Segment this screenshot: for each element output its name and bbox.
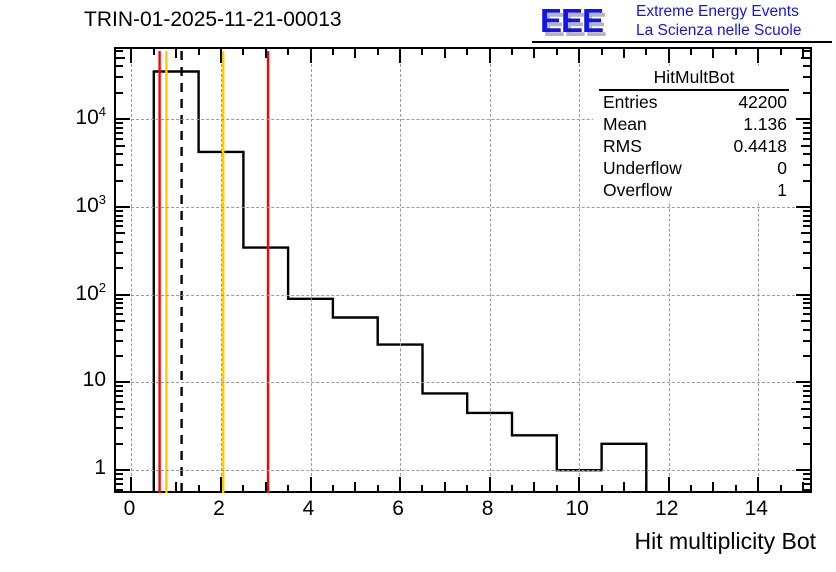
page-title: TRIN-01-2025-11-21-00013 bbox=[84, 8, 342, 32]
y-axis-tick bbox=[803, 401, 810, 403]
x-axis-tick bbox=[377, 49, 379, 55]
stats-value: 1.136 bbox=[743, 113, 787, 135]
x-axis-tick bbox=[399, 49, 401, 63]
y-axis-tick bbox=[116, 206, 130, 208]
y-axis-tick bbox=[803, 443, 810, 445]
x-axis-tick bbox=[421, 49, 423, 55]
x-tick-label: 4 bbox=[303, 497, 315, 521]
y-tick-label: 102 bbox=[75, 280, 106, 306]
stats-key: RMS bbox=[603, 135, 642, 157]
y-axis-tick bbox=[116, 329, 123, 331]
stats-row: Overflow1 bbox=[593, 179, 795, 201]
x-axis-tick bbox=[668, 49, 670, 63]
gridline-vertical bbox=[131, 49, 132, 491]
x-axis-tick bbox=[153, 485, 155, 491]
x-axis-tick bbox=[332, 49, 334, 55]
y-axis-tick bbox=[116, 215, 123, 217]
y-axis-tick bbox=[803, 241, 810, 243]
y-axis-tick bbox=[116, 355, 123, 357]
y-axis-tick bbox=[803, 122, 810, 124]
x-axis-tick bbox=[623, 49, 625, 58]
y-axis-tick bbox=[116, 180, 123, 182]
y-axis-tick bbox=[803, 132, 810, 134]
y-axis-tick bbox=[116, 443, 123, 445]
y-tick-label: 104 bbox=[75, 104, 106, 130]
y-axis-tick bbox=[116, 127, 123, 129]
y-axis-tick bbox=[803, 138, 810, 140]
x-axis-tick bbox=[511, 49, 513, 55]
y-axis-tick bbox=[803, 483, 810, 485]
x-axis-tick bbox=[466, 49, 468, 55]
gridline-vertical bbox=[400, 49, 401, 491]
stats-row: Underflow0 bbox=[593, 157, 795, 179]
stats-key: Overflow bbox=[603, 179, 672, 201]
x-axis-tick bbox=[220, 477, 222, 491]
x-axis-tick bbox=[578, 477, 580, 491]
x-axis-tick bbox=[220, 49, 222, 63]
y-axis-tick bbox=[803, 416, 810, 418]
y-axis-tick bbox=[116, 469, 130, 471]
y-axis-tick bbox=[796, 294, 810, 296]
x-axis-tick bbox=[265, 482, 267, 491]
gridline-vertical bbox=[579, 49, 580, 491]
x-axis-tick bbox=[242, 49, 244, 55]
y-axis-tick bbox=[116, 401, 123, 403]
x-axis-tick bbox=[623, 482, 625, 491]
x-tick-label: 10 bbox=[565, 497, 588, 521]
x-axis-tick bbox=[198, 485, 200, 491]
stats-key: Entries bbox=[603, 91, 657, 113]
gridline-vertical bbox=[221, 49, 222, 491]
y-axis-tick bbox=[116, 220, 123, 222]
y-axis-tick bbox=[116, 232, 125, 234]
y-axis-tick bbox=[803, 329, 810, 331]
y-axis-tick bbox=[116, 408, 125, 410]
y-axis-tick bbox=[803, 50, 810, 52]
y-axis-tick bbox=[116, 307, 123, 309]
y-axis-tick bbox=[803, 164, 810, 166]
y-axis-tick bbox=[801, 145, 810, 147]
y-axis-tick bbox=[803, 473, 810, 475]
x-axis-tick bbox=[757, 49, 759, 63]
y-axis-tick bbox=[803, 355, 810, 357]
y-axis-tick bbox=[116, 390, 123, 392]
x-axis-tick bbox=[332, 485, 334, 491]
y-axis-tick bbox=[803, 220, 810, 222]
x-axis-tick bbox=[735, 485, 737, 491]
x-axis-tick bbox=[690, 49, 692, 55]
y-axis-tick bbox=[116, 427, 123, 429]
y-axis-tick bbox=[803, 427, 810, 429]
y-axis-tick bbox=[116, 294, 130, 296]
x-axis-tick bbox=[399, 477, 401, 491]
y-axis-tick bbox=[116, 153, 123, 155]
x-axis-tick bbox=[780, 485, 782, 491]
y-axis-tick bbox=[116, 65, 123, 67]
y-axis-tick bbox=[803, 252, 810, 254]
y-axis-tick bbox=[116, 313, 123, 315]
eee-logo-line2: La Scienza nelle Scuole bbox=[636, 21, 801, 40]
y-axis-tick bbox=[803, 215, 810, 217]
y-axis-tick bbox=[803, 395, 810, 397]
y-axis-tick bbox=[116, 395, 123, 397]
x-axis-tick bbox=[444, 49, 446, 58]
y-tick-label: 1 bbox=[94, 456, 106, 480]
y-axis-tick bbox=[116, 483, 123, 485]
y-axis-tick bbox=[116, 416, 123, 418]
x-axis-tick bbox=[175, 482, 177, 491]
x-axis-tick bbox=[780, 49, 782, 55]
x-axis-tick bbox=[287, 49, 289, 55]
y-axis-tick bbox=[116, 225, 123, 227]
y-axis-tick bbox=[803, 127, 810, 129]
x-axis-tick bbox=[265, 49, 267, 58]
x-axis-tick bbox=[533, 49, 535, 58]
x-tick-label: 6 bbox=[392, 497, 404, 521]
stats-box: HitMultBot Entries42200Mean1.136RMS0.441… bbox=[593, 66, 795, 201]
y-axis-tick bbox=[116, 385, 123, 387]
y-axis-tick bbox=[803, 267, 810, 269]
y-axis-tick bbox=[116, 164, 123, 166]
gridline-vertical bbox=[490, 49, 491, 491]
stats-value: 42200 bbox=[738, 91, 787, 113]
x-axis-tick bbox=[645, 49, 647, 55]
y-axis-tick bbox=[803, 302, 810, 304]
y-axis-tick bbox=[803, 340, 810, 342]
stats-row: RMS0.4418 bbox=[593, 135, 795, 157]
y-axis-tick bbox=[116, 302, 123, 304]
x-axis-tick bbox=[354, 482, 356, 491]
y-axis-tick bbox=[803, 210, 810, 212]
y-axis-tick bbox=[116, 489, 123, 491]
x-axis-tick bbox=[645, 485, 647, 491]
x-axis-tick bbox=[489, 49, 491, 63]
stats-key: Underflow bbox=[603, 157, 682, 179]
y-axis-tick bbox=[116, 57, 123, 59]
y-axis-tick bbox=[803, 307, 810, 309]
y-axis-tick bbox=[803, 489, 810, 491]
y-axis-tick bbox=[803, 313, 810, 315]
y-axis-tick bbox=[796, 381, 810, 383]
y-axis-tick bbox=[803, 76, 810, 78]
x-axis-tick bbox=[153, 49, 155, 55]
y-axis-tick bbox=[116, 473, 123, 475]
y-axis-tick bbox=[801, 232, 810, 234]
x-axis-tick bbox=[690, 485, 692, 491]
y-axis-tick bbox=[116, 320, 125, 322]
x-axis-tick bbox=[175, 49, 177, 58]
y-axis-tick bbox=[116, 267, 123, 269]
x-axis-tick bbox=[310, 477, 312, 491]
x-axis-tick bbox=[489, 477, 491, 491]
x-axis-tick bbox=[198, 49, 200, 55]
x-axis-tick bbox=[377, 485, 379, 491]
x-axis-tick bbox=[712, 482, 714, 491]
y-axis-tick bbox=[803, 385, 810, 387]
y-axis-tick bbox=[116, 478, 123, 480]
stats-value: 0.4418 bbox=[733, 135, 787, 157]
x-axis-tick bbox=[712, 49, 714, 58]
y-axis-tick bbox=[801, 320, 810, 322]
y-axis-tick bbox=[803, 298, 810, 300]
y-axis-tick bbox=[116, 210, 123, 212]
y-axis-tick bbox=[801, 408, 810, 410]
y-axis-tick bbox=[116, 50, 123, 52]
y-axis-tick bbox=[803, 180, 810, 182]
stats-row: Entries42200 bbox=[593, 91, 795, 113]
x-axis-tick bbox=[287, 485, 289, 491]
x-axis-tick bbox=[533, 482, 535, 491]
x-tick-label: 0 bbox=[124, 497, 136, 521]
gridline-vertical bbox=[311, 49, 312, 491]
x-axis-tick bbox=[757, 477, 759, 491]
y-axis-tick bbox=[803, 225, 810, 227]
y-axis-tick bbox=[803, 478, 810, 480]
x-axis-tick bbox=[130, 49, 132, 63]
logo-divider bbox=[532, 41, 832, 43]
x-axis-tick bbox=[130, 477, 132, 491]
x-axis-tick bbox=[421, 485, 423, 491]
x-tick-label: 2 bbox=[213, 497, 225, 521]
y-axis-tick bbox=[803, 65, 810, 67]
x-axis-tick bbox=[466, 485, 468, 491]
eee-logo-letters: EEE bbox=[540, 4, 603, 37]
eee-logo-text: Extreme Energy Events La Scienza nelle S… bbox=[636, 2, 801, 40]
eee-logo-line1: Extreme Energy Events bbox=[636, 2, 801, 21]
x-axis-tick bbox=[556, 49, 558, 55]
y-axis-tick bbox=[116, 298, 123, 300]
x-axis-tick bbox=[354, 49, 356, 58]
x-tick-label: 8 bbox=[482, 497, 494, 521]
x-axis-tick bbox=[668, 477, 670, 491]
y-tick-label: 10 bbox=[83, 368, 106, 392]
x-tick-label: 14 bbox=[745, 497, 768, 521]
x-axis-tick bbox=[310, 49, 312, 63]
y-axis-tick bbox=[803, 153, 810, 155]
eee-logo: EEE Extreme Energy Events La Scienza nel… bbox=[532, 0, 832, 42]
y-axis-tick bbox=[803, 92, 810, 94]
x-tick-label: 12 bbox=[655, 497, 678, 521]
y-axis-tick bbox=[116, 76, 123, 78]
x-axis-title: Hit multiplicity Bot bbox=[635, 528, 816, 555]
plot-canvas: TRIN-01-2025-11-21-00013 EEE Extreme Ene… bbox=[0, 0, 836, 572]
y-axis-tick bbox=[803, 57, 810, 59]
y-axis-tick bbox=[116, 118, 130, 120]
x-axis-tick bbox=[578, 49, 580, 63]
x-axis-tick bbox=[556, 485, 558, 491]
y-axis-tick bbox=[116, 132, 123, 134]
x-axis-tick bbox=[444, 482, 446, 491]
x-axis-tick bbox=[511, 485, 513, 491]
y-axis-tick bbox=[116, 252, 123, 254]
x-axis-tick bbox=[242, 485, 244, 491]
y-axis-tick bbox=[796, 469, 810, 471]
stats-key: Mean bbox=[603, 113, 647, 135]
y-axis-tick bbox=[116, 138, 123, 140]
y-axis-tick bbox=[796, 206, 810, 208]
y-axis-tick bbox=[796, 118, 810, 120]
y-axis-tick bbox=[116, 381, 130, 383]
y-axis-tick bbox=[116, 92, 123, 94]
stats-title: HitMultBot bbox=[599, 66, 789, 91]
x-axis-tick bbox=[601, 485, 603, 491]
stats-value: 1 bbox=[777, 179, 787, 201]
x-axis-tick bbox=[735, 49, 737, 55]
y-tick-label: 103 bbox=[75, 192, 106, 218]
y-axis-tick bbox=[803, 390, 810, 392]
stats-row: Mean1.136 bbox=[593, 113, 795, 135]
y-axis-tick bbox=[116, 241, 123, 243]
y-axis-tick bbox=[116, 145, 125, 147]
x-axis-tick bbox=[601, 49, 603, 55]
y-axis-tick bbox=[116, 340, 123, 342]
stats-value: 0 bbox=[777, 157, 787, 179]
y-axis-tick bbox=[116, 122, 123, 124]
